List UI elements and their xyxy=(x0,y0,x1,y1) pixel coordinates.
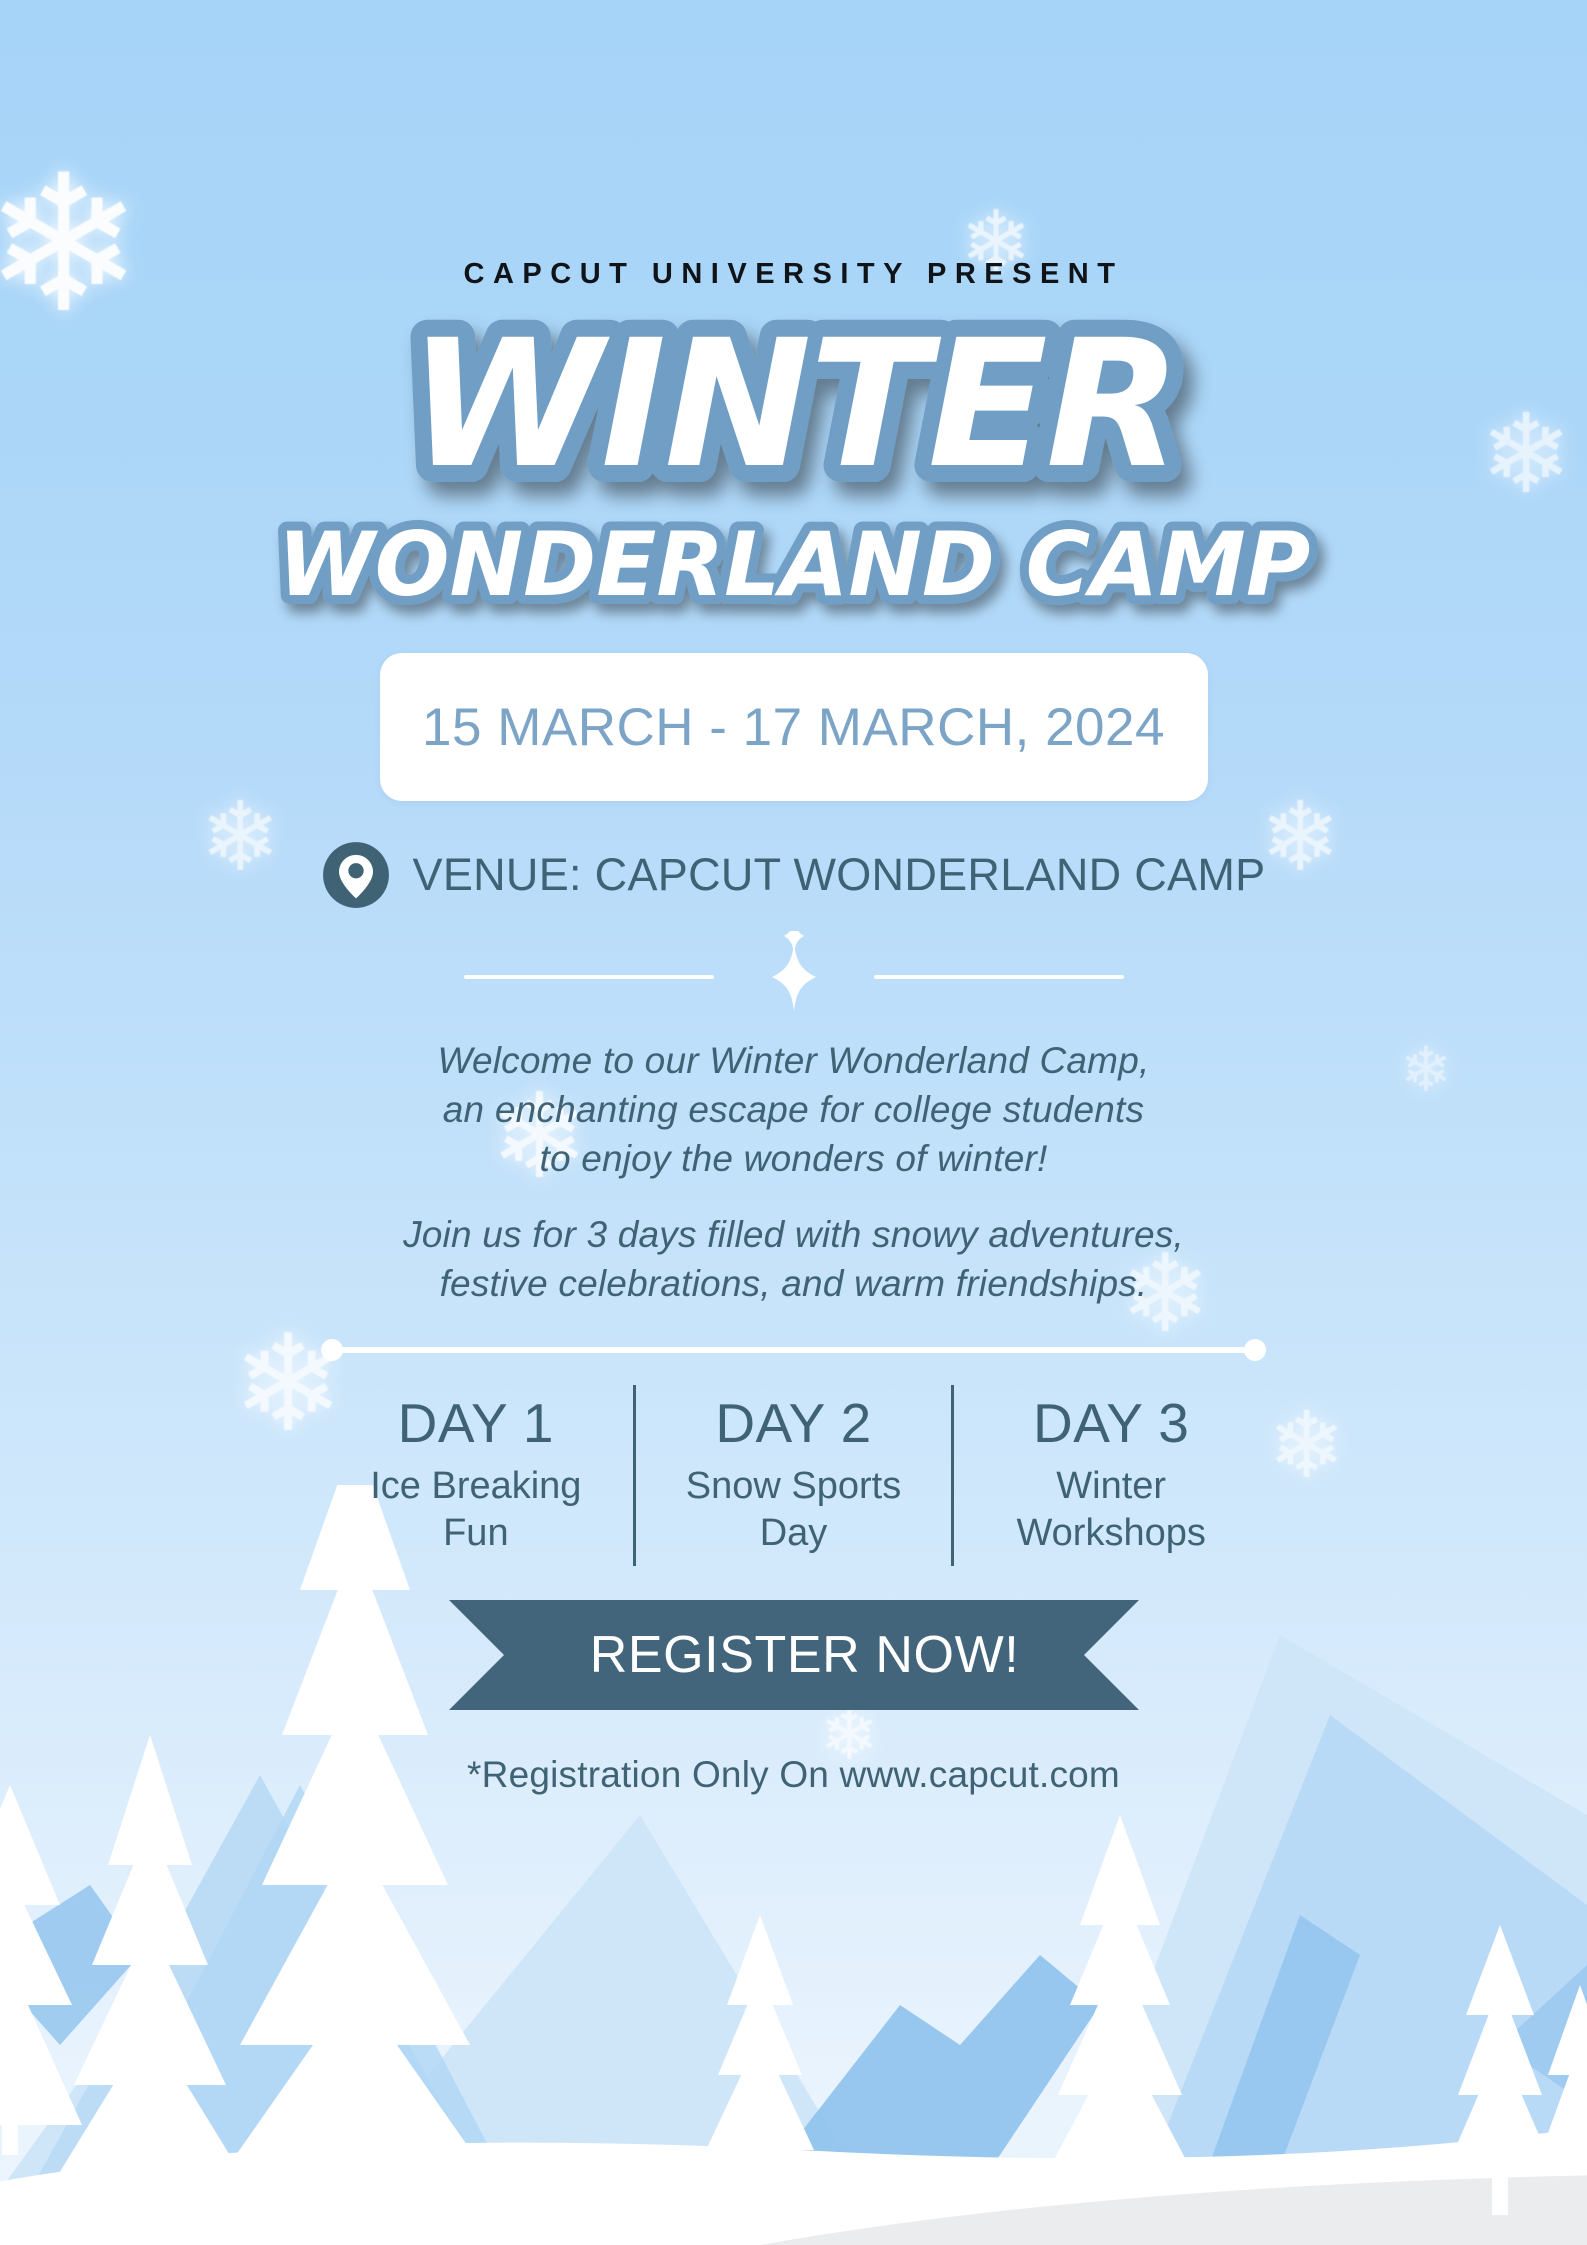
venue-row: VENUE: CAPCUT WONDERLAND CAMP xyxy=(322,841,1266,909)
day-1-subtitle: Ice Breaking Fun xyxy=(370,1463,581,1556)
day-2-sub-line-1: Snow Sports xyxy=(686,1463,901,1509)
description-paragraph-2: Join us for 3 days filled with snowy adv… xyxy=(403,1211,1184,1309)
description-paragraph-1: Welcome to our Winter Wonderland Camp, a… xyxy=(438,1037,1150,1183)
title-line-2: WONDERLAND CAMP xyxy=(0,505,1587,613)
register-now-button[interactable]: REGISTER NOW! xyxy=(449,1600,1139,1710)
day-2-title: DAY 2 xyxy=(715,1391,871,1455)
day-schedule: DAY 1 Ice Breaking Fun DAY 2 Snow Sports… xyxy=(319,1385,1269,1566)
day-column-1: DAY 1 Ice Breaking Fun xyxy=(319,1385,634,1566)
day-2-sub-line-2: Day xyxy=(686,1510,901,1556)
day-column-3: DAY 3 Winter Workshops xyxy=(951,1385,1269,1566)
event-date-pill: 15 MARCH - 17 MARCH, 2024 xyxy=(380,653,1208,801)
desc-1-line-2: an enchanting escape for college student… xyxy=(438,1086,1150,1135)
sparkle-divider xyxy=(444,931,1144,1023)
desc-2-line-1: Join us for 3 days filled with snowy adv… xyxy=(403,1211,1184,1260)
title-line-1: WINTER xyxy=(0,313,1587,511)
day-1-sub-line-2: Fun xyxy=(370,1510,581,1556)
rule-dot-right xyxy=(1244,1339,1266,1361)
presenter-label: CAPCUT UNIVERSITY PRESENT xyxy=(464,258,1124,291)
location-pin-icon xyxy=(322,841,390,909)
rule-line xyxy=(331,1347,1256,1353)
day-1-title: DAY 1 xyxy=(398,1391,554,1455)
desc-1-line-3: to enjoy the wonders of winter! xyxy=(438,1135,1150,1184)
winter-camp-poster: ❄ ❄ ❄ ❄ ❄ ❄ ❄ ❄ ❄ ❄ ❄ xyxy=(0,0,1587,2245)
event-date-text: 15 MARCH - 17 MARCH, 2024 xyxy=(422,697,1165,758)
day-column-2: DAY 2 Snow Sports Day xyxy=(633,1385,951,1566)
desc-2-line-2: festive celebrations, and warm friendshi… xyxy=(403,1260,1184,1309)
day-1-sub-line-1: Ice Breaking xyxy=(370,1463,581,1509)
venue-text: VENUE: CAPCUT WONDERLAND CAMP xyxy=(413,849,1266,901)
register-now-label: REGISTER NOW! xyxy=(449,1600,1139,1710)
day-3-sub-line-2: Workshops xyxy=(1016,1510,1205,1556)
section-rule xyxy=(321,1339,1266,1361)
day-3-title: DAY 3 xyxy=(1033,1391,1189,1455)
day-2-subtitle: Snow Sports Day xyxy=(686,1463,901,1556)
desc-1-line-1: Welcome to our Winter Wonderland Camp, xyxy=(438,1037,1150,1086)
day-3-subtitle: Winter Workshops xyxy=(1016,1463,1205,1556)
title-line-2-text: WONDERLAND CAMP xyxy=(277,513,1310,616)
registration-footnote: *Registration Only On www.capcut.com xyxy=(467,1754,1120,1796)
sparkle-small-icon xyxy=(784,931,804,955)
day-3-sub-line-1: Winter xyxy=(1016,1463,1205,1509)
title-line-1-text: WINTER xyxy=(408,302,1179,507)
